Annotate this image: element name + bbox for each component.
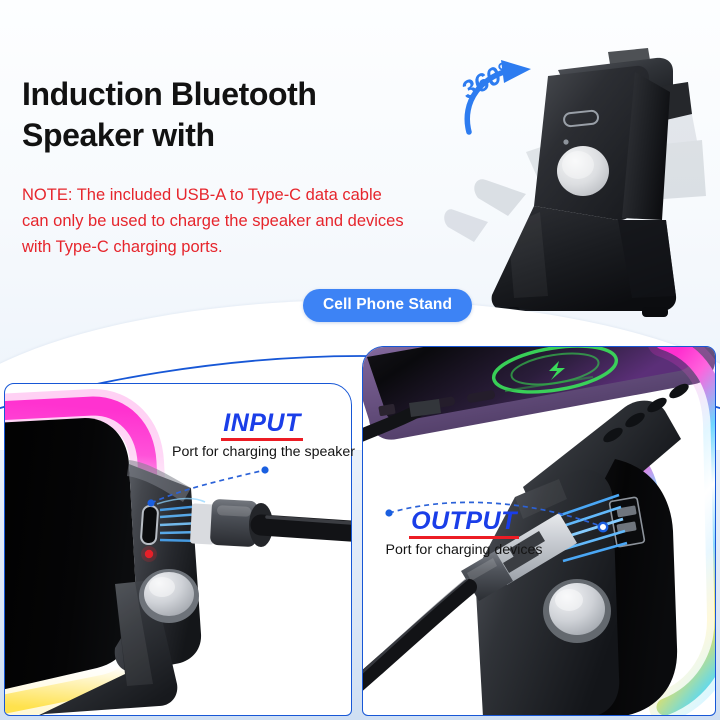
phone-stand-product-image <box>430 28 720 330</box>
led-indicator-icon <box>563 139 568 144</box>
charging-cable <box>261 525 352 532</box>
cell-phone-stand-badge[interactable]: Cell Phone Stand <box>303 289 472 322</box>
note-text: NOTE: The included USB-A to Type-C data … <box>22 182 412 260</box>
callout-output-subtitle: Port for charging devices <box>368 542 560 558</box>
callout-input: INPUT Port for charging the speaker <box>172 410 352 460</box>
type-c-port-icon <box>141 506 159 545</box>
callout-input-title: INPUT <box>221 410 303 441</box>
callout-output: OUTPUT Port for charging devices <box>368 508 560 558</box>
page-title: Induction Bluetooth Speaker with <box>22 74 422 156</box>
product-infographic: Induction Bluetooth Speaker with NOTE: T… <box>0 0 720 720</box>
charging-cable <box>362 587 469 687</box>
callout-output-title: OUTPUT <box>409 508 519 539</box>
callout-input-subtitle: Port for charging the speaker <box>172 444 352 460</box>
